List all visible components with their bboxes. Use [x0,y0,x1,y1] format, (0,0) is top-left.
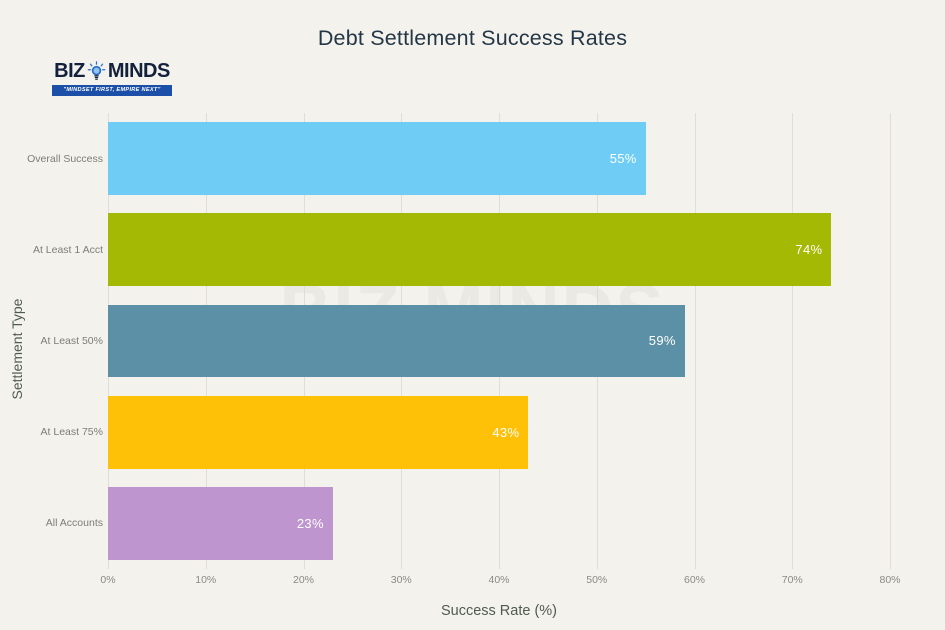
x-axis-tick-label: 50% [586,574,607,586]
chart-title: Debt Settlement Success Rates [0,26,945,51]
bar-row: 74% [108,213,890,286]
brand-logo: BIZ MINDS " [52,60,172,96]
x-axis-tick-label: 70% [782,574,803,586]
bar-row: 55% [108,122,890,195]
x-axis-tick-label: 0% [100,574,115,586]
x-axis-tick-label: 20% [293,574,314,586]
bar[interactable]: 43% [108,396,528,469]
gridline [890,113,891,569]
bar-row: 43% [108,396,890,469]
logo-word-minds: MINDS [108,60,170,83]
lightbulb-icon [86,61,107,82]
logo-wordmark: BIZ MINDS [52,60,172,83]
bar-value-label: 74% [795,242,831,257]
x-axis-tick-label: 30% [391,574,412,586]
x-axis-ticks: 0%10%20%30%40%50%60%70%80% [108,574,890,590]
bar[interactable]: 55% [108,122,646,195]
bar-row: 59% [108,305,890,378]
bar[interactable]: 74% [108,213,831,286]
plot-area: 55%74%59%43%23% [108,113,890,569]
x-axis-tick-label: 60% [684,574,705,586]
y-axis-title: Settlement Type [9,274,25,424]
bar-value-label: 59% [649,333,685,348]
y-axis-tick-label: Overall Success [3,153,103,165]
logo-word-biz: BIZ [54,60,85,83]
bar[interactable]: 23% [108,487,333,560]
bar-row: 23% [108,487,890,560]
logo-tagline: "MINDSET FIRST, EMPIRE NEXT" [52,85,172,96]
y-axis-tick-label: At Least 1 Acct [3,244,103,256]
bar-value-label: 55% [610,151,646,166]
y-axis-tick-label: All Accounts [3,517,103,529]
x-axis-tick-label: 80% [879,574,900,586]
bar-value-label: 43% [492,425,528,440]
bar[interactable]: 59% [108,305,685,378]
x-axis-title: Success Rate (%) [108,603,890,619]
x-axis-tick-label: 10% [195,574,216,586]
y-axis-tick-label: At Least 75% [3,426,103,438]
bar-value-label: 23% [297,516,333,531]
x-axis-tick-label: 40% [488,574,509,586]
chart-canvas: Debt Settlement Success Rates BIZ [0,0,945,630]
